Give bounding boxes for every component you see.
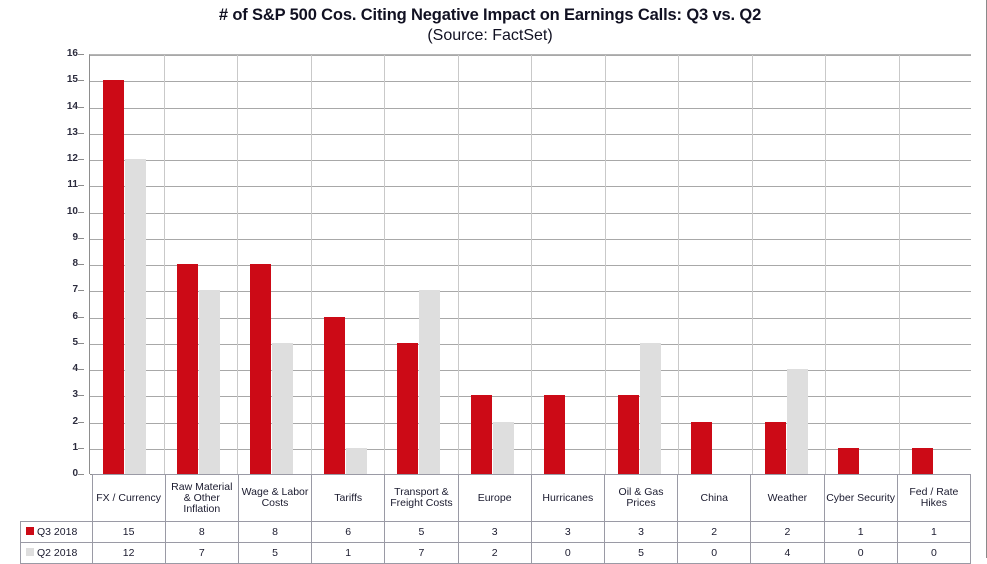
bar-group	[752, 55, 826, 474]
bar-q2[interactable]	[787, 369, 808, 474]
data-cell: 2	[458, 543, 531, 564]
category-header-cell: Oil & Gas Prices	[604, 475, 677, 522]
bar-group	[899, 55, 973, 474]
y-axis-tick-mark	[78, 133, 84, 134]
y-axis-tick-mark	[78, 54, 84, 55]
bar-q2[interactable]	[125, 159, 146, 474]
bar-q3[interactable]	[691, 422, 712, 475]
bar-group	[237, 55, 311, 474]
category-header-cell: Europe	[458, 475, 531, 522]
y-axis-tick-mark	[78, 290, 84, 291]
data-cell: 1	[824, 522, 897, 543]
category-header-cell: Cyber Security	[824, 475, 897, 522]
bar-q3[interactable]	[912, 448, 933, 474]
category-header-cell: China	[678, 475, 751, 522]
legend-swatch-icon	[26, 527, 34, 535]
chart-title-block: # of S&P 500 Cos. Citing Negative Impact…	[0, 6, 980, 46]
y-axis-tick-mark	[78, 238, 84, 239]
bar-q3[interactable]	[471, 395, 492, 474]
category-header-cell: Tariffs	[312, 475, 385, 522]
chart-container: # of S&P 500 Cos. Citing Negative Impact…	[0, 0, 987, 558]
category-header-cell: Transport & Freight Costs	[385, 475, 458, 522]
data-cell: 5	[385, 522, 458, 543]
bar-q2[interactable]	[493, 422, 514, 475]
bar-q2[interactable]	[199, 290, 220, 474]
data-cell: 4	[751, 543, 824, 564]
category-header-cell: FX / Currency	[92, 475, 165, 522]
y-axis-tick-label: 14	[67, 102, 78, 112]
data-cell: 12	[92, 543, 165, 564]
y-axis-tick-mark	[78, 264, 84, 265]
bar-q2[interactable]	[272, 343, 293, 474]
category-header-cell: Fed / Rate Hikes	[897, 475, 970, 522]
y-axis-tick-label: 10	[67, 207, 78, 217]
data-cell: 3	[458, 522, 531, 543]
data-cell: 0	[531, 543, 604, 564]
category-header-cell: Hurricanes	[531, 475, 604, 522]
bar-q3[interactable]	[838, 448, 859, 474]
bars-layer	[90, 55, 971, 474]
bar-group	[311, 55, 385, 474]
data-cell: 0	[897, 543, 970, 564]
bar-q3[interactable]	[324, 317, 345, 475]
y-axis-tick-label: 13	[67, 128, 78, 138]
data-cell: 0	[678, 543, 751, 564]
y-axis-tick-label: 12	[67, 154, 78, 164]
y-axis-tick-mark	[78, 212, 84, 213]
y-axis-tick-label: 11	[67, 180, 78, 190]
data-cell: 7	[165, 543, 238, 564]
y-axis-tick-mark	[78, 159, 84, 160]
y-axis-tick-mark	[78, 448, 84, 449]
bar-q2[interactable]	[346, 448, 367, 474]
bar-q3[interactable]	[765, 422, 786, 475]
data-cell: 7	[385, 543, 458, 564]
bar-q3[interactable]	[618, 395, 639, 474]
legend-item-q3[interactable]: Q3 2018	[21, 522, 93, 543]
legend-swatch-icon	[26, 548, 34, 556]
bar-group	[825, 55, 899, 474]
bar-group	[531, 55, 605, 474]
table-row: Q2 20181275172050400	[21, 543, 971, 564]
bar-q3[interactable]	[177, 264, 198, 474]
y-axis-tick-mark	[78, 395, 84, 396]
y-axis-tick-mark	[78, 343, 84, 344]
data-cell: 2	[751, 522, 824, 543]
data-cell: 6	[312, 522, 385, 543]
category-header-cell: Weather	[751, 475, 824, 522]
table-corner-cell	[21, 475, 93, 522]
bar-q3[interactable]	[250, 264, 271, 474]
bar-group	[678, 55, 752, 474]
bar-q3[interactable]	[397, 343, 418, 474]
data-cell: 8	[165, 522, 238, 543]
y-axis-tick-mark	[78, 422, 84, 423]
chart-subtitle: (Source: FactSet)	[0, 26, 980, 46]
y-axis-tick-mark	[78, 80, 84, 81]
bar-q2[interactable]	[419, 290, 440, 474]
bar-q3[interactable]	[544, 395, 565, 474]
y-axis: 161514131211109876543210	[40, 54, 84, 474]
bar-group	[164, 55, 238, 474]
y-axis-tick-mark	[78, 107, 84, 108]
bar-group	[605, 55, 679, 474]
data-cell: 3	[531, 522, 604, 543]
y-axis-tick-label: 16	[67, 49, 78, 59]
data-cell: 8	[238, 522, 311, 543]
data-cell: 5	[604, 543, 677, 564]
category-header-cell: Wage & Labor Costs	[238, 475, 311, 522]
data-table: FX / CurrencyRaw Material & Other Inflat…	[20, 474, 971, 564]
bar-q2[interactable]	[640, 343, 661, 474]
page-title: # of S&P 500 Cos. Citing Negative Impact…	[0, 6, 980, 25]
table-header-row: FX / CurrencyRaw Material & Other Inflat…	[21, 475, 971, 522]
bar-group	[384, 55, 458, 474]
y-axis-tick-mark	[78, 185, 84, 186]
data-cell: 1	[312, 543, 385, 564]
data-cell: 0	[824, 543, 897, 564]
category-header-cell: Raw Material & Other Inflation	[165, 475, 238, 522]
bar-q3[interactable]	[103, 80, 124, 474]
legend-label: Q3 2018	[37, 526, 77, 538]
table-row: Q3 20181588653332211	[21, 522, 971, 543]
legend-label: Q2 2018	[37, 547, 77, 559]
y-axis-tick-mark	[78, 317, 84, 318]
data-cell: 3	[604, 522, 677, 543]
bar-group	[90, 55, 164, 474]
data-cell: 5	[238, 543, 311, 564]
data-cell: 15	[92, 522, 165, 543]
plot-area	[89, 54, 971, 474]
data-cell: 2	[678, 522, 751, 543]
bar-group	[458, 55, 532, 474]
y-axis-tick-label: 15	[67, 75, 78, 85]
legend-item-q2[interactable]: Q2 2018	[21, 543, 93, 564]
data-cell: 1	[897, 522, 970, 543]
y-axis-tick-mark	[78, 369, 84, 370]
